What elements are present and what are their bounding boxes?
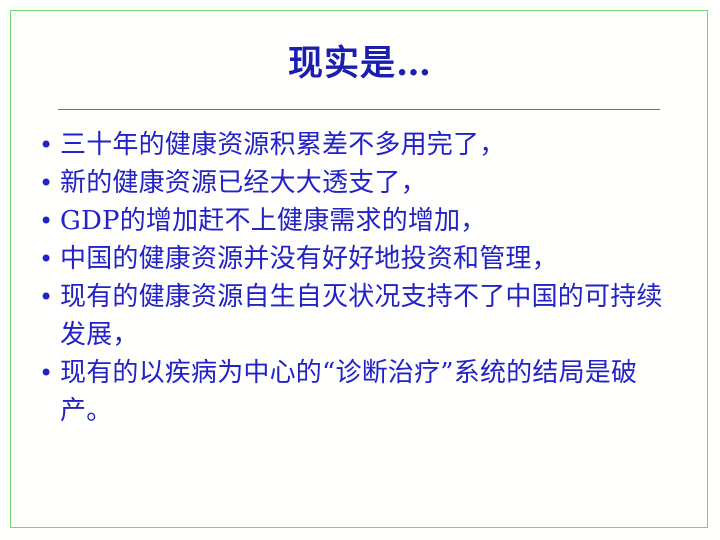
title-divider-rule [58,109,660,110]
page-title: 现实是… [288,42,432,86]
bullet-point-icon: • [36,126,60,164]
bullet-point-icon: • [36,278,60,316]
bullet-point-icon: • [36,240,60,278]
list-item: • 中国的健康资源并没有好好地投资和管理， [36,240,696,278]
list-item-text: 新的健康资源已经大大透支了， [60,164,696,202]
list-item: • 现有的健康资源自生自灭状况支持不了中国的可持续发展， [36,278,696,354]
bullet-point-icon: • [36,164,60,202]
list-item: • GDP的增加赶不上健康需求的增加， [36,202,696,240]
list-item: • 现有的以疾病为中心的“诊断治疗”系统的结局是破产。 [36,354,696,430]
list-item-text: 现有的健康资源自生自灭状况支持不了中国的可持续发展， [60,278,684,354]
bullet-list: • 三十年的健康资源积累差不多用完了， • 新的健康资源已经大大透支了， • G… [36,126,696,430]
list-item-text: GDP的增加赶不上健康需求的增加， [60,202,696,240]
list-item: • 三十年的健康资源积累差不多用完了， [36,126,696,164]
bullet-point-icon: • [36,354,60,392]
list-item-text: 三十年的健康资源积累差不多用完了， [60,126,696,164]
list-item: • 新的健康资源已经大大透支了， [36,164,696,202]
presentation-slide: 现实是… • 三十年的健康资源积累差不多用完了， • 新的健康资源已经大大透支了… [0,0,720,540]
list-item-text: 现有的以疾病为中心的“诊断治疗”系统的结局是破产。 [60,354,684,430]
list-item-text: 中国的健康资源并没有好好地投资和管理， [60,240,696,278]
slide-title-block: 现实是… [0,42,720,86]
bullet-point-icon: • [36,202,60,240]
